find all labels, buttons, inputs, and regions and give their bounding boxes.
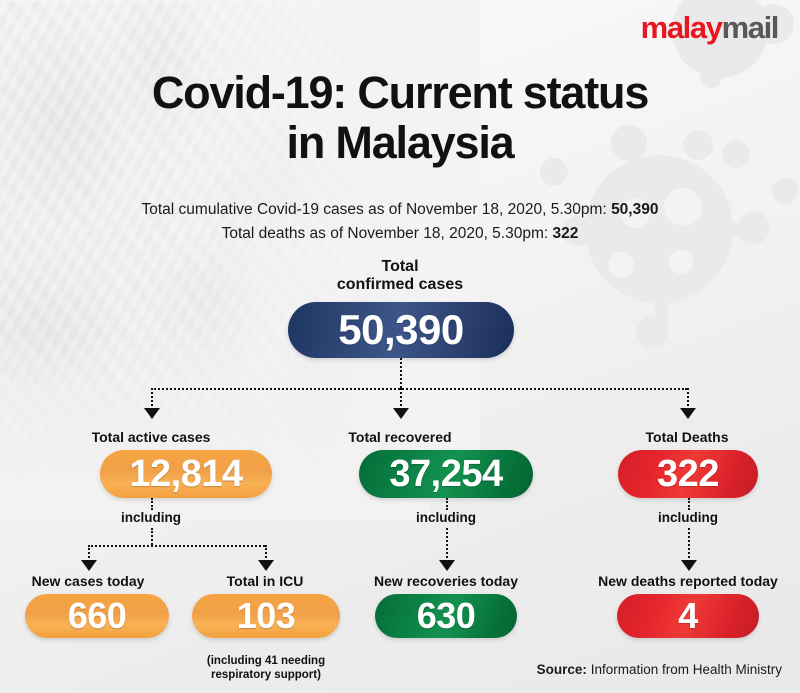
summary-cumulative-label: Total cumulative Covid-19 cases as of No… (142, 201, 607, 218)
total-in-icu-caption-text: Total in ICU (227, 573, 304, 589)
root-caption-line2: confirmed cases (300, 276, 500, 294)
connector-active-down (151, 388, 153, 410)
connector-recovered-incl-bottom (446, 528, 448, 562)
connector-root-down (400, 358, 402, 388)
source-line: Source: Information from Health Ministry (537, 662, 782, 677)
arrow-new-recoveries (439, 560, 455, 571)
new-deaths-today-pill: 4 (617, 594, 759, 638)
new-deaths-today-value: 4 (678, 595, 698, 637)
connector-active-incl-top (151, 498, 153, 510)
new-recoveries-today-caption-text: New recoveries today (374, 573, 518, 589)
logo-part-malay: malay (641, 10, 722, 45)
total-in-icu-note: (including 41 needing respiratory suppor… (182, 641, 350, 682)
including-label-deaths: including (638, 510, 738, 525)
arrow-new-deaths (681, 560, 697, 571)
logo-part-mail: mail (722, 10, 778, 45)
arrow-icu (258, 560, 274, 571)
new-cases-today-value: 660 (68, 595, 127, 637)
summary-deaths: Total deaths as of November 18, 2020, 5.… (0, 222, 800, 246)
total-recovered-pill: 37,254 (359, 450, 533, 498)
total-deaths-pill: 322 (618, 450, 758, 498)
total-active-cases-caption-text: Total active cases (92, 429, 211, 445)
page-title-line2: in Malaysia (0, 118, 800, 168)
total-active-cases-pill: 12,814 (100, 450, 272, 498)
total-active-cases-value: 12,814 (129, 453, 242, 496)
total-deaths-caption: Total Deaths (587, 430, 787, 446)
total-active-cases-caption: Total active cases (51, 430, 251, 446)
new-cases-today-caption: New cases today (0, 574, 188, 590)
new-recoveries-today-value: 630 (417, 595, 476, 637)
summary-deaths-value: 322 (553, 225, 579, 242)
new-recoveries-today-caption: New recoveries today (346, 574, 546, 590)
page-title: Covid-19: Current status in Malaysia (0, 68, 800, 169)
arrow-recovered (393, 408, 409, 419)
total-in-icu-value: 103 (237, 595, 296, 637)
including-label-active: including (101, 510, 201, 525)
arrow-new-cases (81, 560, 97, 571)
total-recovered-caption: Total recovered (300, 430, 500, 446)
summary-cumulative: Total cumulative Covid-19 cases as of No… (0, 198, 800, 222)
total-in-icu-caption: Total in ICU (165, 574, 365, 590)
connector-recovered-incl-top (446, 498, 448, 510)
including-label-active-text: including (121, 510, 181, 525)
root-caption: Total confirmed cases (300, 258, 500, 294)
total-deaths-caption-text: Total Deaths (646, 429, 729, 445)
including-label-recovered: including (396, 510, 496, 525)
arrow-active (144, 408, 160, 419)
total-confirmed-cases-pill: 50,390 (288, 302, 514, 358)
infographic-canvas: malaymail Covid-19: Current status in Ma… (0, 0, 800, 693)
source-text: Information from Health Ministry (591, 662, 782, 677)
root-caption-line1: Total (300, 258, 500, 276)
summary-deaths-label: Total deaths as of November 18, 2020, 5.… (222, 225, 549, 242)
new-deaths-today-caption: New deaths reported today (588, 574, 788, 590)
site-logo[interactable]: malaymail (641, 12, 778, 43)
connector-deaths-incl-top (688, 498, 690, 510)
arrow-deaths (680, 408, 696, 419)
new-deaths-today-caption-text: New deaths reported today (598, 573, 778, 589)
new-recoveries-today-pill: 630 (375, 594, 517, 638)
including-label-recovered-text: including (416, 510, 476, 525)
connector-deaths-down (687, 388, 689, 410)
total-recovered-caption-text: Total recovered (348, 429, 451, 445)
total-in-icu-pill: 103 (192, 594, 340, 638)
connector-level2-bus (151, 388, 687, 390)
connector-deaths-incl-bottom (688, 528, 690, 562)
page-title-line1: Covid-19: Current status (152, 67, 648, 118)
connector-recovered-down (400, 388, 402, 410)
total-recovered-value: 37,254 (389, 453, 502, 496)
connector-active-children-bus (88, 545, 265, 547)
new-cases-today-pill: 660 (25, 594, 169, 638)
connector-active-incl-bottom (151, 528, 153, 545)
total-in-icu-note-text: (including 41 needing respiratory suppor… (207, 655, 325, 681)
summary-cumulative-value: 50,390 (611, 201, 658, 218)
total-confirmed-cases-value: 50,390 (338, 306, 463, 354)
new-cases-today-caption-text: New cases today (32, 573, 145, 589)
summary-text: Total cumulative Covid-19 cases as of No… (0, 198, 800, 246)
source-label: Source: (537, 662, 587, 677)
including-label-deaths-text: including (658, 510, 718, 525)
total-deaths-value: 322 (657, 453, 719, 496)
